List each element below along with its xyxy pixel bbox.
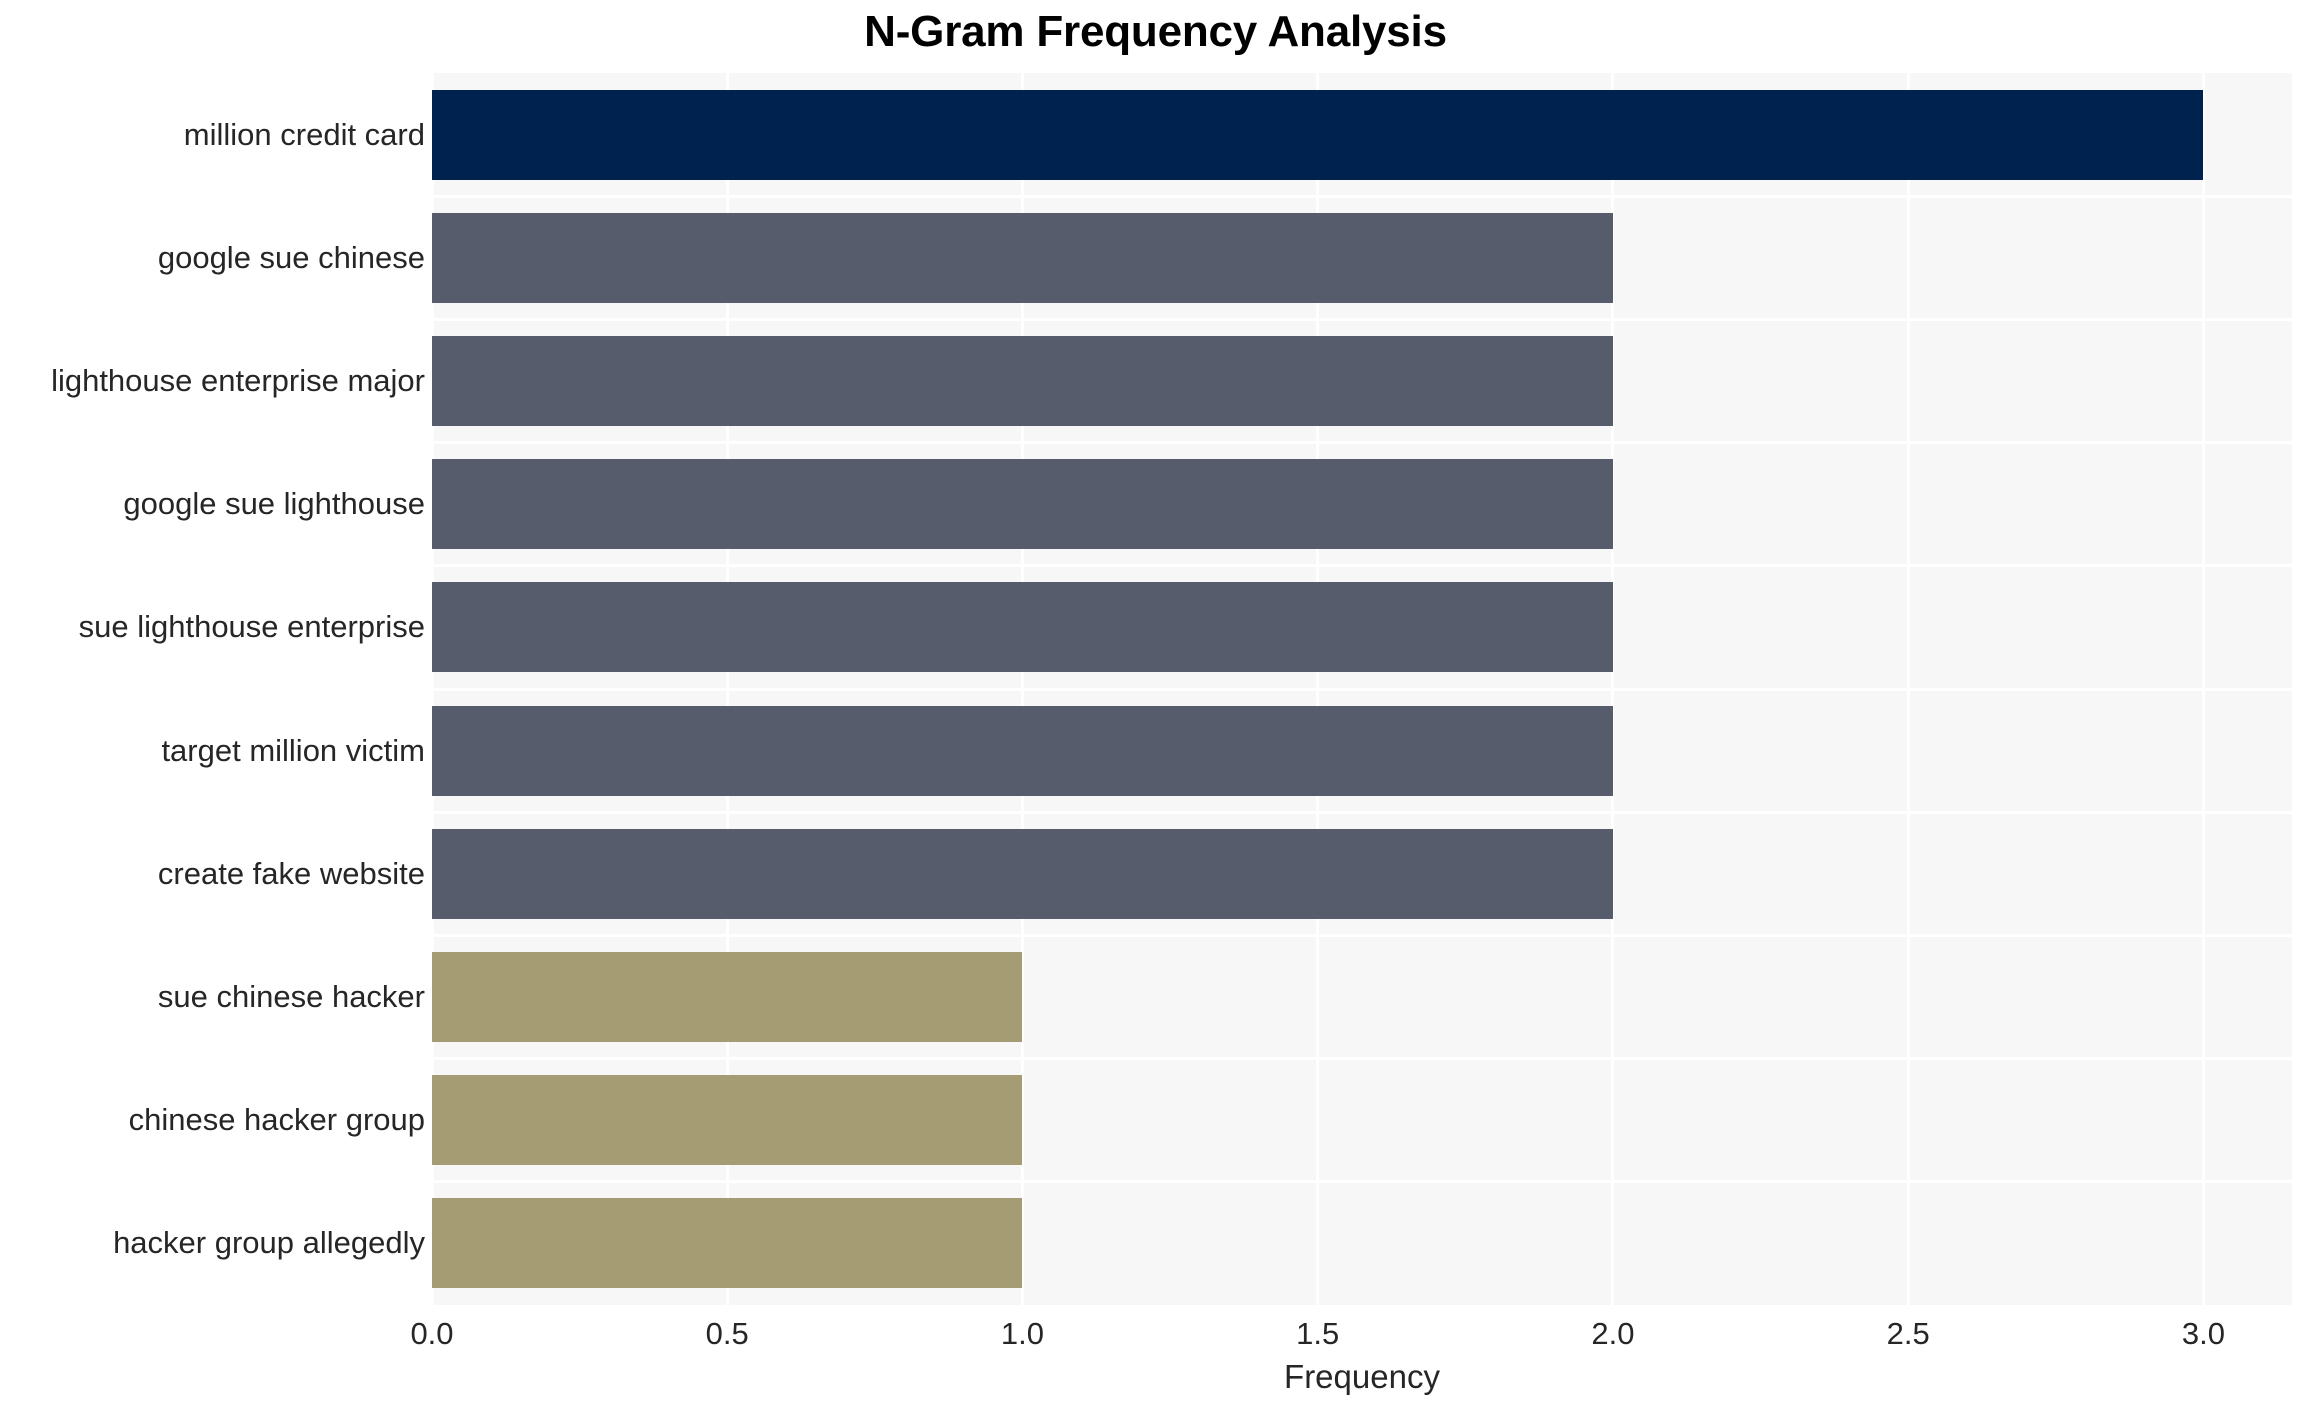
y-axis-tick-label: google sue chinese xyxy=(0,240,425,276)
y-axis-tick-label: lighthouse enterprise major xyxy=(0,363,425,399)
y-axis-tick-label: chinese hacker group xyxy=(0,1102,425,1138)
chart-title: N-Gram Frequency Analysis xyxy=(0,7,2311,57)
y-axis-tick-label: million credit card xyxy=(0,117,425,153)
x-axis-tick-label: 1.0 xyxy=(952,1316,1092,1352)
y-gridline xyxy=(432,318,2292,321)
y-axis-tick-label: hacker group allegedly xyxy=(0,1225,425,1261)
bar[interactable] xyxy=(432,952,1022,1042)
x-axis-tick-label: 3.0 xyxy=(2133,1316,2273,1352)
y-axis-tick-label: google sue lighthouse xyxy=(0,486,425,522)
x-axis-tick-label: 1.5 xyxy=(1248,1316,1388,1352)
y-gridline xyxy=(432,811,2292,814)
x-axis-tick-label: 0.5 xyxy=(657,1316,797,1352)
bar[interactable] xyxy=(432,1075,1022,1165)
y-axis-tick-label: sue lighthouse enterprise xyxy=(0,609,425,645)
y-gridline xyxy=(432,1057,2292,1060)
x-axis-title: Frequency xyxy=(432,1358,2292,1396)
y-gridline xyxy=(432,441,2292,444)
bar[interactable] xyxy=(432,336,1613,426)
x-axis-tick-labels: 0.00.51.01.52.02.53.0 xyxy=(0,1316,2311,1362)
plot-area xyxy=(432,73,2292,1305)
y-axis-tick-labels: million credit cardgoogle sue chineselig… xyxy=(0,73,425,1305)
y-axis-tick-label: create fake website xyxy=(0,856,425,892)
x-axis-tick-label: 2.0 xyxy=(1543,1316,1683,1352)
bar[interactable] xyxy=(432,459,1613,549)
bar[interactable] xyxy=(432,706,1613,796)
chart-figure: N-Gram Frequency Analysis million credit… xyxy=(0,0,2311,1402)
y-gridline xyxy=(432,564,2292,567)
y-axis-tick-label: sue chinese hacker xyxy=(0,979,425,1015)
bar[interactable] xyxy=(432,829,1613,919)
bar[interactable] xyxy=(432,582,1613,672)
x-axis-tick-label: 2.5 xyxy=(1838,1316,1978,1352)
y-gridline xyxy=(432,195,2292,198)
y-gridline xyxy=(432,1180,2292,1183)
y-gridline xyxy=(432,934,2292,937)
x-axis-tick-label: 0.0 xyxy=(362,1316,502,1352)
bar[interactable] xyxy=(432,90,2203,180)
bar[interactable] xyxy=(432,213,1613,303)
y-gridline xyxy=(432,688,2292,691)
y-axis-tick-label: target million victim xyxy=(0,733,425,769)
bar[interactable] xyxy=(432,1198,1022,1288)
